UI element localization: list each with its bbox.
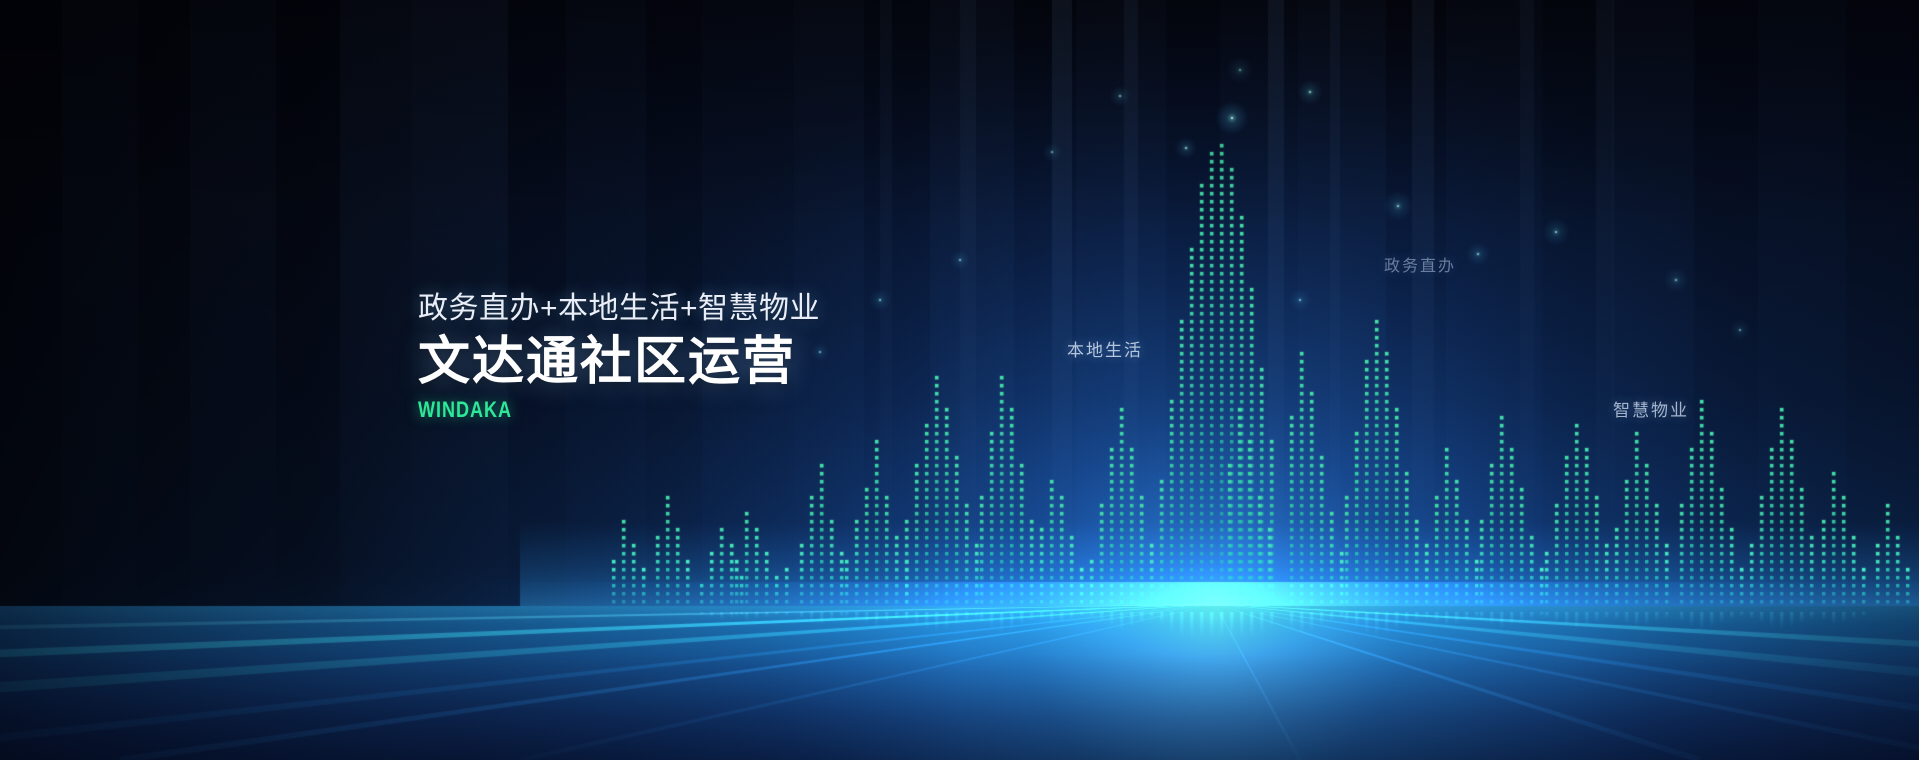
page-title: 文达通社区运营 (418, 334, 820, 390)
headline-eyebrow: 政务直办+本地生活+智慧物业 (418, 292, 820, 326)
hero-banner: 政务直办+本地生活+智慧物业 文达通社区运营 WINDAKA 政务直办 本地生活… (0, 0, 1919, 760)
skyline-label-gov: 政务直办 (1384, 252, 1456, 276)
skyline-scene-canvas (0, 0, 1919, 760)
brand-wordmark: WINDAKA (418, 399, 748, 421)
skyline-label-life: 本地生活 (1067, 336, 1143, 361)
headline-block: 政务直办+本地生活+智慧物业 文达通社区运营 WINDAKA (418, 292, 820, 421)
skyline-label-property: 智慧物业 (1613, 396, 1689, 421)
